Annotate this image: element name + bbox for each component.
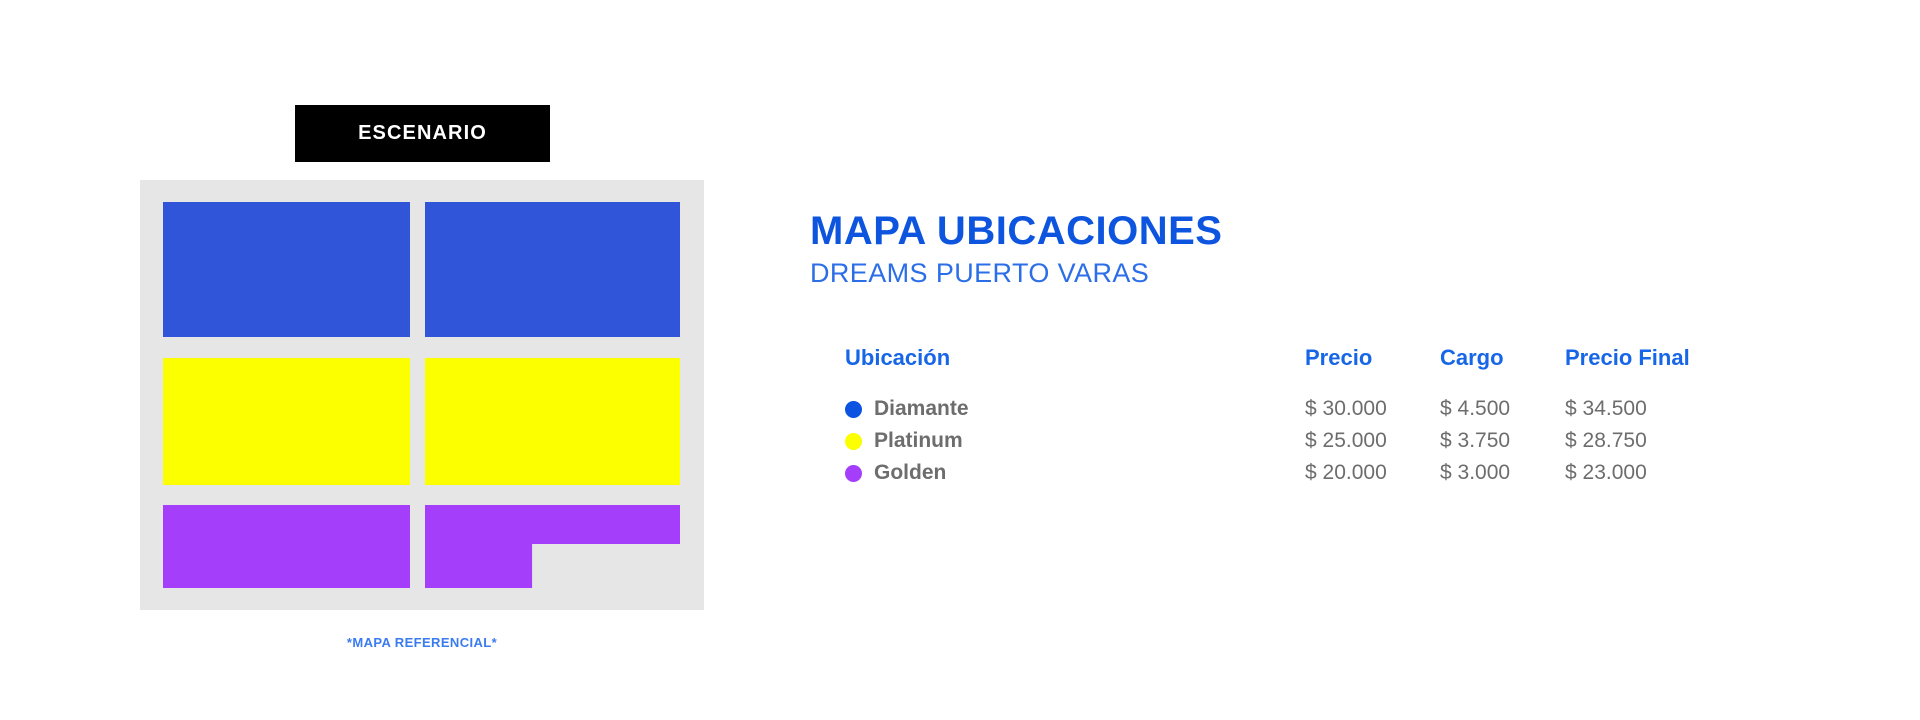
zone-color-dot-icon [845,465,862,482]
seat-map-container [140,180,704,610]
cell-ubicacion: Platinum [845,425,1305,457]
table-row[interactable]: Golden$ 20.000$ 3.000$ 23.000 [845,457,1855,489]
cell-precio: $ 30.000 [1305,393,1440,425]
zone-label: Diamante [874,397,969,421]
table-row[interactable]: Platinum$ 25.000$ 3.750$ 28.750 [845,425,1855,457]
seat-block-platinum-left[interactable] [163,358,410,485]
cell-cargo: $ 3.000 [1440,457,1565,489]
stage-label: ESCENARIO [358,122,487,145]
table-header-row: Ubicación Precio Cargo Precio Final [845,345,1855,393]
column-header-precio-final: Precio Final [1565,345,1855,393]
seat-block-golden-left[interactable] [163,505,410,588]
cell-precio-final: $ 23.000 [1565,457,1855,489]
cell-precio: $ 25.000 [1305,425,1440,457]
zone-color-dot-icon [845,433,862,450]
seat-block-diamante-right[interactable] [425,202,680,337]
seat-block-diamante-left[interactable] [163,202,410,337]
cell-precio: $ 20.000 [1305,457,1440,489]
zone-color-dot-icon [845,401,862,418]
seat-block-platinum-right[interactable] [425,358,680,485]
page-subtitle: DREAMS PUERTO VARAS [810,258,1222,289]
column-header-cargo: Cargo [1440,345,1565,393]
cell-ubicacion: Golden [845,457,1305,489]
column-header-ubicacion: Ubicación [845,345,1305,393]
cell-ubicacion: Diamante [845,393,1305,425]
stage-banner: ESCENARIO [295,105,550,162]
cell-precio-final: $ 28.750 [1565,425,1855,457]
map-footnote: *MAPA REFERENCIAL* [140,635,704,650]
page-title: MAPA UBICACIONES [810,210,1222,252]
table-row[interactable]: Diamante$ 30.000$ 4.500$ 34.500 [845,393,1855,425]
zone-label: Golden [874,461,946,485]
cell-cargo: $ 3.750 [1440,425,1565,457]
price-table: Ubicación Precio Cargo Precio Final Diam… [845,345,1855,489]
cell-cargo: $ 4.500 [1440,393,1565,425]
title-block: MAPA UBICACIONES DREAMS PUERTO VARAS [810,210,1222,289]
seat-block-golden-right[interactable] [425,505,680,588]
price-table-body: Diamante$ 30.000$ 4.500$ 34.500Platinum$… [845,393,1855,489]
column-header-precio: Precio [1305,345,1440,393]
info-panel: MAPA UBICACIONES DREAMS PUERTO VARAS Ubi… [810,0,1920,720]
zone-label: Platinum [874,429,963,453]
price-table-head: Ubicación Precio Cargo Precio Final [845,345,1855,393]
cell-precio-final: $ 34.500 [1565,393,1855,425]
venue-map-panel: ESCENARIO *MAPA REFERENCIAL* [0,0,760,720]
